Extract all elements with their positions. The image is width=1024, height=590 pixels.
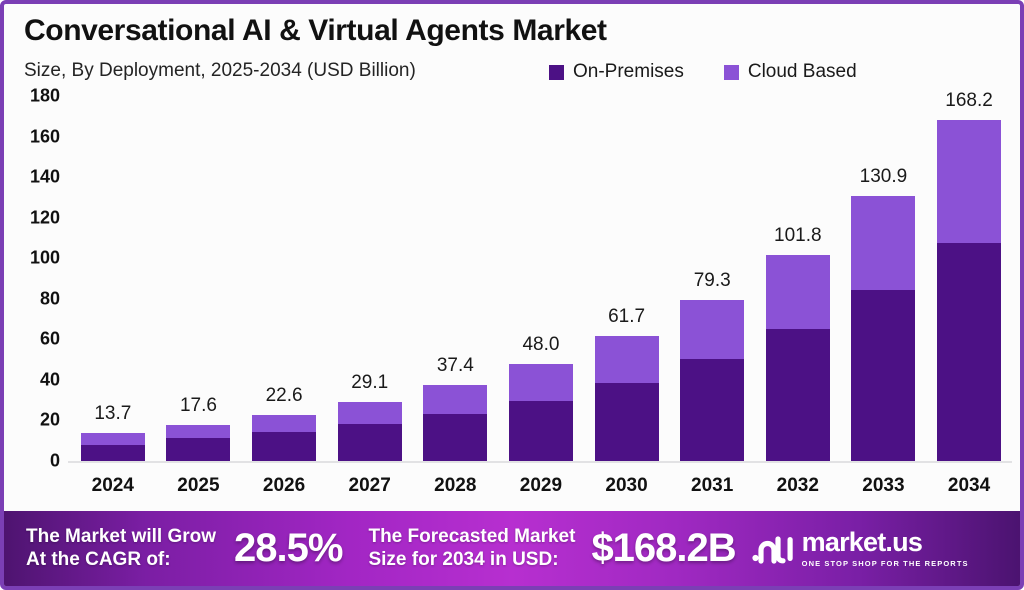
bar-group[interactable]: 22.6 <box>251 96 317 461</box>
bar-value-label: 101.8 <box>774 225 822 247</box>
y-axis-tick: 120 <box>30 207 60 228</box>
bar-segment-on-premises[interactable] <box>851 290 915 461</box>
y-axis: 020406080100120140160180 <box>4 96 68 511</box>
x-axis-baseline <box>68 461 1012 463</box>
bar-group[interactable]: 168.2 <box>936 96 1002 461</box>
y-axis-tick: 80 <box>40 288 60 309</box>
page-title: Conversational AI & Virtual Agents Marke… <box>24 14 607 48</box>
bar-segment-cloud-based[interactable] <box>937 120 1001 243</box>
cagr-value: 28.5% <box>234 526 342 571</box>
bar-group[interactable]: 101.8 <box>765 96 831 461</box>
bar-segment-cloud-based[interactable] <box>766 255 830 329</box>
market-us-logo[interactable]: market.us ONE STOP SHOP FOR THE REPORTS <box>752 529 969 568</box>
legend-label: Cloud Based <box>748 61 857 83</box>
bar-segment-on-premises[interactable] <box>166 438 230 461</box>
bar-group[interactable]: 13.7 <box>80 96 146 461</box>
bar-group[interactable]: 79.3 <box>679 96 745 461</box>
bar-group[interactable]: 48.0 <box>508 96 574 461</box>
bar-value-label: 37.4 <box>437 355 474 377</box>
legend-label: On-Premises <box>573 61 684 83</box>
x-axis-labels: 2024202520262027202820292030203120322033… <box>70 468 1012 504</box>
logo-name: market.us <box>802 529 969 556</box>
x-axis-label: 2028 <box>422 475 488 497</box>
market-us-logomark-icon <box>752 532 794 566</box>
bar-group[interactable]: 61.7 <box>594 96 660 461</box>
x-axis-label: 2034 <box>936 475 1002 497</box>
x-axis-label: 2030 <box>594 475 660 497</box>
x-axis-label: 2031 <box>679 475 745 497</box>
forecast-value: $168.2B <box>591 526 735 571</box>
y-axis-tick: 20 <box>40 410 60 431</box>
bar-value-label: 13.7 <box>94 403 131 425</box>
bar-segment-on-premises[interactable] <box>423 414 487 461</box>
x-axis-label: 2024 <box>80 475 146 497</box>
bar-value-label: 48.0 <box>522 334 559 356</box>
chart-subtitle: Size, By Deployment, 2025-2034 (USD Bill… <box>24 60 416 82</box>
bar-value-label: 17.6 <box>180 395 217 417</box>
x-axis-label: 2026 <box>251 475 317 497</box>
bar-segment-cloud-based[interactable] <box>166 425 230 437</box>
x-axis-label: 2027 <box>337 475 403 497</box>
bar-segment-on-premises[interactable] <box>252 432 316 461</box>
bar-segment-cloud-based[interactable] <box>81 433 145 445</box>
bar-segment-on-premises[interactable] <box>680 359 744 461</box>
forecast-label-line1: The Forecasted Market <box>368 526 575 547</box>
legend-item-on-premises[interactable]: On-Premises <box>549 61 684 83</box>
bar-value-label: 61.7 <box>608 306 645 328</box>
cagr-fact: The Market will Grow At the CAGR of: 28.… <box>26 526 342 572</box>
chart-plot-area: 020406080100120140160180 13.717.622.629.… <box>4 96 1020 511</box>
chart-legend: On-PremisesCloud Based <box>549 61 857 83</box>
y-axis-tick: 140 <box>30 167 60 188</box>
y-axis-tick: 0 <box>50 451 60 472</box>
footer-banner: The Market will Grow At the CAGR of: 28.… <box>4 511 1020 586</box>
bar-value-label: 79.3 <box>694 270 731 292</box>
chart-header: Conversational AI & Virtual Agents Marke… <box>4 4 1020 96</box>
bar-segment-on-premises[interactable] <box>81 445 145 461</box>
bar-segment-on-premises[interactable] <box>509 401 573 461</box>
bar-segment-on-premises[interactable] <box>766 329 830 461</box>
bar-value-label: 22.6 <box>266 385 303 407</box>
bar-group[interactable]: 130.9 <box>850 96 916 461</box>
y-axis-tick: 180 <box>30 86 60 107</box>
x-axis-label: 2033 <box>850 475 916 497</box>
bar-group[interactable]: 37.4 <box>422 96 488 461</box>
bar-segment-cloud-based[interactable] <box>509 364 573 401</box>
forecast-label: The Forecasted Market Size for 2034 in U… <box>368 526 575 572</box>
bar-segment-cloud-based[interactable] <box>851 196 915 291</box>
x-axis-label: 2032 <box>765 475 831 497</box>
bar-group[interactable]: 17.6 <box>165 96 231 461</box>
forecast-fact: The Forecasted Market Size for 2034 in U… <box>368 526 735 572</box>
x-axis-label: 2029 <box>508 475 574 497</box>
bar-segment-cloud-based[interactable] <box>595 336 659 383</box>
infographic-card: Conversational AI & Virtual Agents Marke… <box>0 0 1024 590</box>
legend-swatch-icon <box>549 65 564 80</box>
y-axis-tick: 160 <box>30 126 60 147</box>
cagr-label: The Market will Grow At the CAGR of: <box>26 526 216 572</box>
logo-tagline: ONE STOP SHOP FOR THE REPORTS <box>802 560 969 568</box>
bar-value-label: 130.9 <box>860 166 908 188</box>
bar-value-label: 29.1 <box>351 372 388 394</box>
bar-segment-on-premises[interactable] <box>338 424 402 461</box>
y-axis-tick: 40 <box>40 369 60 390</box>
logo-wordmark: market.us ONE STOP SHOP FOR THE REPORTS <box>802 529 969 568</box>
y-axis-tick: 100 <box>30 248 60 269</box>
legend-swatch-icon <box>724 65 739 80</box>
bar-segment-on-premises[interactable] <box>595 383 659 461</box>
cagr-label-line2: At the CAGR of: <box>26 549 171 570</box>
x-axis-label: 2025 <box>165 475 231 497</box>
bar-value-label: 168.2 <box>945 90 993 112</box>
bar-segment-cloud-based[interactable] <box>252 415 316 432</box>
forecast-label-line2: Size for 2034 in USD: <box>368 549 558 570</box>
bar-segment-cloud-based[interactable] <box>338 402 402 424</box>
bar-segment-cloud-based[interactable] <box>423 385 487 414</box>
bar-segment-cloud-based[interactable] <box>680 300 744 359</box>
bar-segment-on-premises[interactable] <box>937 243 1001 461</box>
y-axis-tick: 60 <box>40 329 60 350</box>
bar-series-container: 13.717.622.629.137.448.061.779.3101.8130… <box>70 96 1012 461</box>
legend-item-cloud-based[interactable]: Cloud Based <box>724 61 857 83</box>
bar-group[interactable]: 29.1 <box>337 96 403 461</box>
cagr-label-line1: The Market will Grow <box>26 526 216 547</box>
